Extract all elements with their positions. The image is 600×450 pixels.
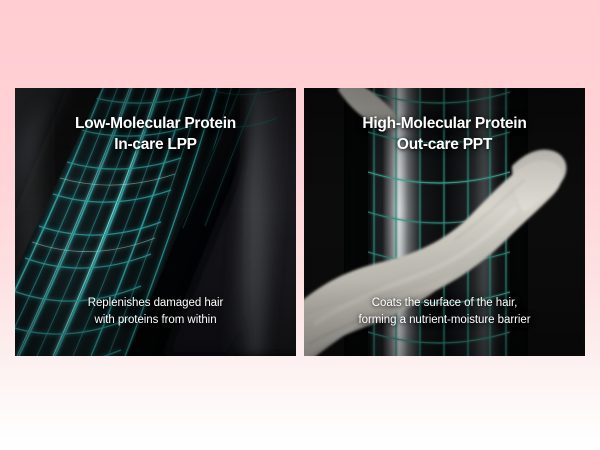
ppt-caption: Coats the surface of the hair, forming a… (304, 295, 585, 328)
ppt-caption-line2: forming a nutrient-moisture barrier (304, 312, 585, 328)
lpp-caption-line1: Replenishes damaged hair (15, 295, 296, 311)
lpp-title-line1: Low-Molecular Protein (15, 114, 296, 135)
lpp-caption: Replenishes damaged hair with proteins f… (15, 295, 296, 328)
panel-high-molecular-protein: High-Molecular Protein Out-care PPT Coat… (304, 88, 585, 356)
ppt-title-line2: Out-care PPT (304, 135, 585, 156)
ppt-caption-line1: Coats the surface of the hair, (304, 295, 585, 311)
lpp-title-line2: In-care LPP (15, 135, 296, 156)
ppt-title: High-Molecular Protein Out-care PPT (304, 114, 585, 155)
ppt-title-line1: High-Molecular Protein (304, 114, 585, 135)
lpp-caption-line2: with proteins from within (15, 312, 296, 328)
panel-low-molecular-protein: Low-Molecular Protein In-care LPP Replen… (15, 88, 296, 356)
lpp-title: Low-Molecular Protein In-care LPP (15, 114, 296, 155)
comparison-panel-group: Low-Molecular Protein In-care LPP Replen… (15, 88, 585, 356)
